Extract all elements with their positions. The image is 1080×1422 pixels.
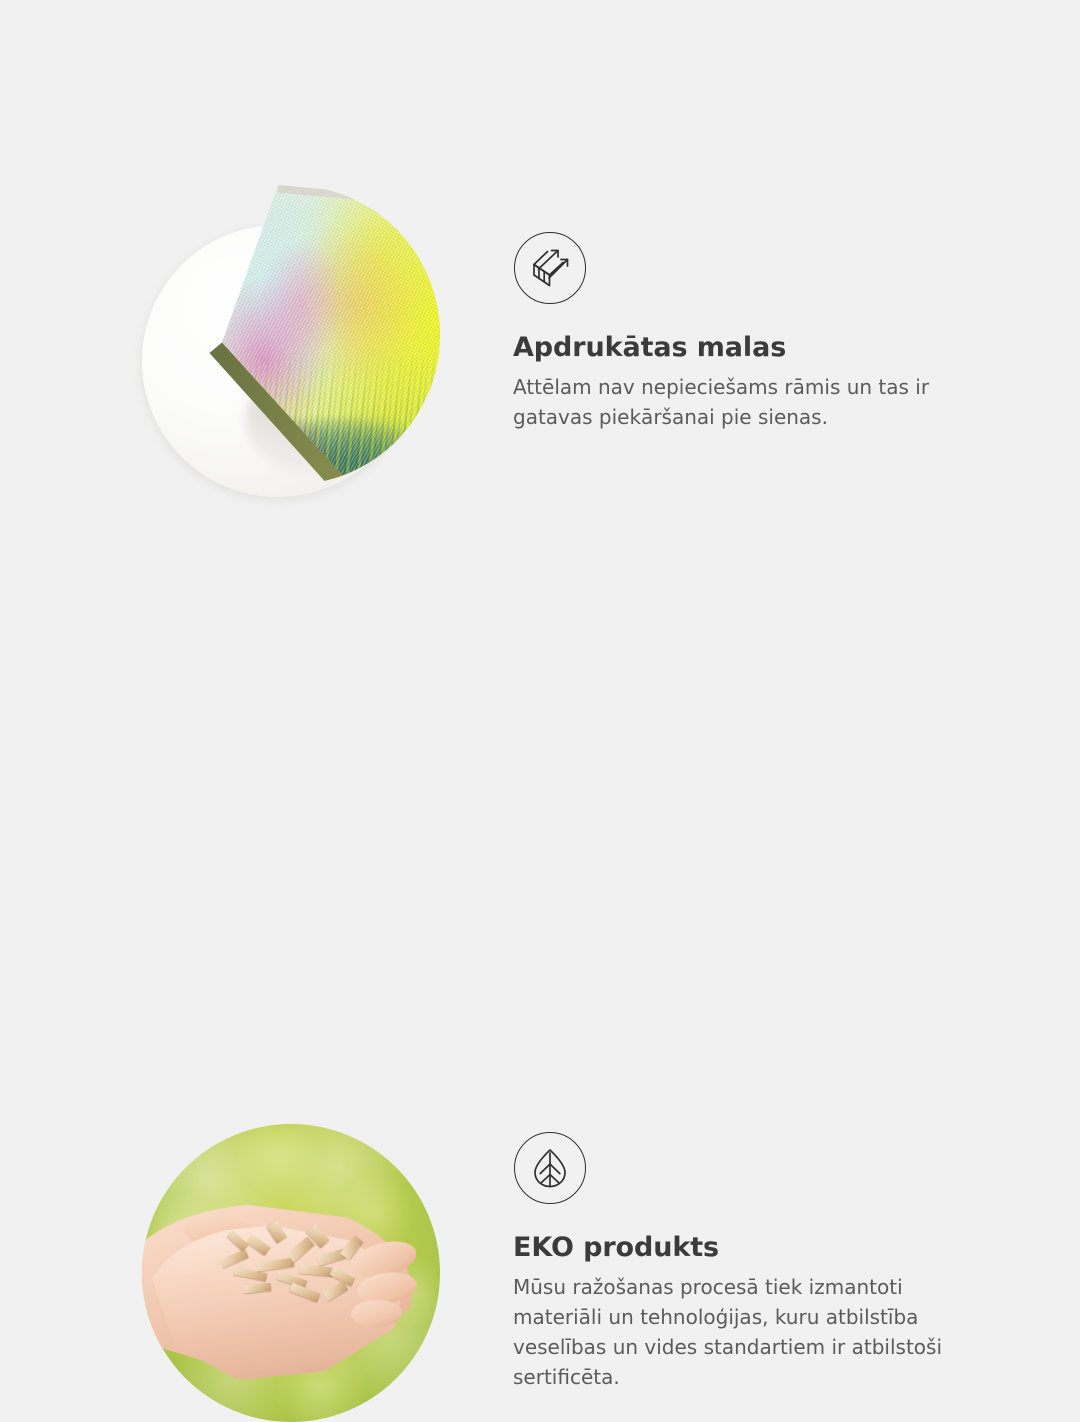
canvas-printed-face [158,185,470,485]
leaf-icon [514,1132,586,1204]
feature-title: Apdrukātas malas [513,332,1013,364]
feature-block-printed-edges: Apdrukātas malas Attēlam nav nepieciešam… [0,0,1080,540]
printed-canvas-edges-icon [514,232,586,304]
eco-photo-crop [142,1124,440,1422]
feature-description: Mūsu ražošanas procesā tiek izmantoti ma… [513,1272,991,1392]
feature-description: Attēlam nav nepieciešams rāmis un tas ir… [513,372,997,432]
feature-text-eco-product: EKO produkts Mūsu ražošanas procesā tiek… [513,1132,1013,1392]
feature-text-printed-edges: Apdrukātas malas Attēlam nav nepieciešam… [513,232,1013,432]
canvas-photo-crop [158,185,470,485]
feature-title: EKO produkts [513,1232,1013,1264]
wood-chips-pile [214,1213,381,1314]
hands-holding-wood-chips-photo [130,705,460,1055]
feature-panel: Apdrukātas malas Attēlam nav nepieciešam… [0,0,1080,1080]
feature-block-eco-product: EKO produkts Mūsu ražošanas procesā tiek… [0,540,1080,1080]
canvas-corner-photo [130,165,460,515]
